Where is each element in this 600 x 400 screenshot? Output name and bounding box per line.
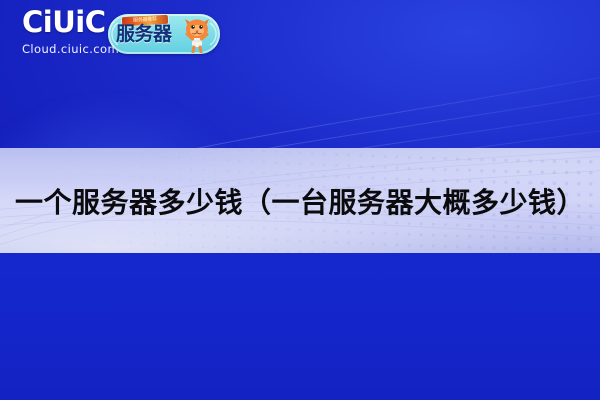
lower-solid-blue xyxy=(0,253,600,400)
banner-image: 一个服务器多少钱（一台服务器大概多少钱） CiUiC Cloud.ciuic.c… xyxy=(0,0,600,400)
orange-cat-mascot-icon xyxy=(180,17,214,53)
server-badge: 服务器推荐 服务器 xyxy=(108,14,220,54)
badge-label: 服务器 xyxy=(116,25,172,44)
page-title: 一个服务器多少钱（一台服务器大概多少钱） xyxy=(0,148,600,253)
